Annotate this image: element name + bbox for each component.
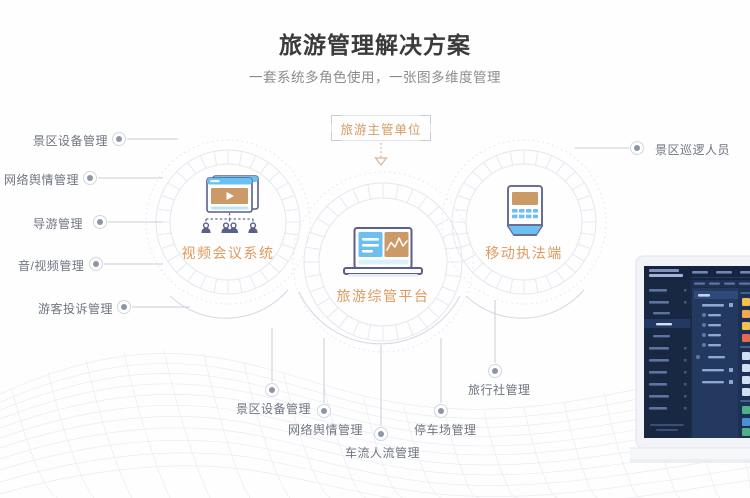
authority-arrow-icon [376, 143, 387, 165]
laptop-dashboard-mockup [630, 252, 750, 498]
infographic-canvas: 旅游管理解决方案 一套系统多角色使用，一张图多维度管理 [0, 0, 750, 498]
node-label-network-opinion-left: 网络舆情管理 [4, 171, 79, 188]
node-label-tourist-complaint: 游客投诉管理 [38, 300, 113, 317]
node-label-tour-guide: 导游管理 [33, 215, 83, 232]
authority-badge: 旅游主管单位 [331, 115, 431, 141]
node-label-scenic-equipment-left: 景区设备管理 [33, 132, 108, 149]
laptop-icon [342, 226, 426, 284]
hub-caption-video-conference: 视频会议系统 [148, 243, 308, 263]
node-label-traffic-flow: 车流人流管理 [345, 444, 420, 461]
node-label-scenic-patrol-staff: 景区巡逻人员 [655, 141, 730, 158]
mobile-device-icon [503, 183, 547, 243]
node-label-scenic-equipment-bottom: 景区设备管理 [236, 400, 311, 417]
left-connectors [98, 139, 190, 307]
node-label-network-opinion-bottom: 网络舆情管理 [288, 421, 363, 438]
authority-badge-label: 旅游主管单位 [340, 119, 421, 138]
hub-caption-mobile-enforcement: 移动执法端 [444, 243, 604, 263]
node-label-audio-video: 音/视频管理 [18, 257, 84, 274]
node-label-travel-agency: 旅行社管理 [468, 381, 531, 398]
node-label-parking-lot: 停车场管理 [414, 421, 477, 438]
hub-caption-integrated-platform: 旅游综管平台 [303, 286, 463, 306]
video-window-icon [193, 172, 265, 234]
